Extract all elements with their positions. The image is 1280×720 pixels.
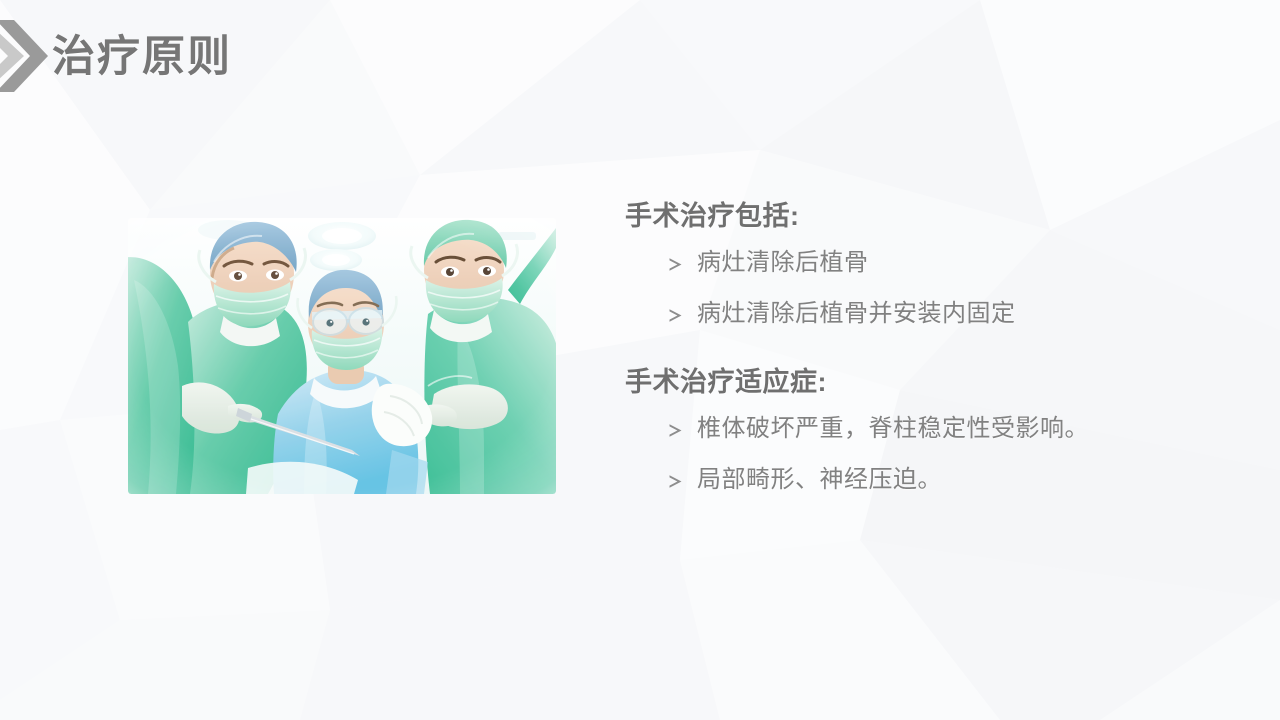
page-title: 治疗原则 xyxy=(52,29,232,85)
section-surgical-indications: 手术治疗适应症: 椎体破坏严重，脊柱稳定性受影响。 xyxy=(625,362,1245,502)
list-item: 局部畸形、神经压迫。 xyxy=(667,459,1245,502)
arrowhead-bullet-icon xyxy=(667,243,697,285)
surgical-team-photo xyxy=(128,218,556,494)
arrowhead-bullet-icon xyxy=(667,409,697,451)
slide-header: 治疗原则 xyxy=(0,0,1280,115)
section-surgical-treatment-includes: 手术治疗包括: 病灶清除后植骨 病灶清除 xyxy=(625,196,1245,336)
list-item: 病灶清除后植骨 xyxy=(667,242,1245,285)
bullet-list: 椎体破坏严重，脊柱稳定性受影响。 局部畸形、神经压迫。 xyxy=(625,408,1245,502)
photo-image xyxy=(128,218,556,494)
list-item: 椎体破坏严重，脊柱稳定性受影响。 xyxy=(667,408,1245,451)
content-body: 手术治疗包括: 病灶清除后植骨 病灶清除 xyxy=(625,196,1245,508)
list-item-label: 病灶清除后植骨 xyxy=(697,242,1245,284)
slide-canvas: 治疗原则 xyxy=(0,0,1280,720)
list-item-label: 局部畸形、神经压迫。 xyxy=(697,459,1245,501)
list-item-label: 病灶清除后植骨并安装内固定 xyxy=(697,293,1245,335)
list-item: 病灶清除后植骨并安装内固定 xyxy=(667,293,1245,336)
section-heading: 手术治疗适应症: xyxy=(625,362,1245,402)
section-heading: 手术治疗包括: xyxy=(625,196,1245,236)
double-chevron-right-icon xyxy=(0,20,48,92)
arrowhead-bullet-icon xyxy=(667,294,697,336)
list-item-label: 椎体破坏严重，脊柱稳定性受影响。 xyxy=(697,408,1245,450)
arrowhead-bullet-icon xyxy=(667,460,697,502)
bullet-list: 病灶清除后植骨 病灶清除后植骨并安装内固定 xyxy=(625,242,1245,336)
photo-illustration xyxy=(128,218,556,494)
